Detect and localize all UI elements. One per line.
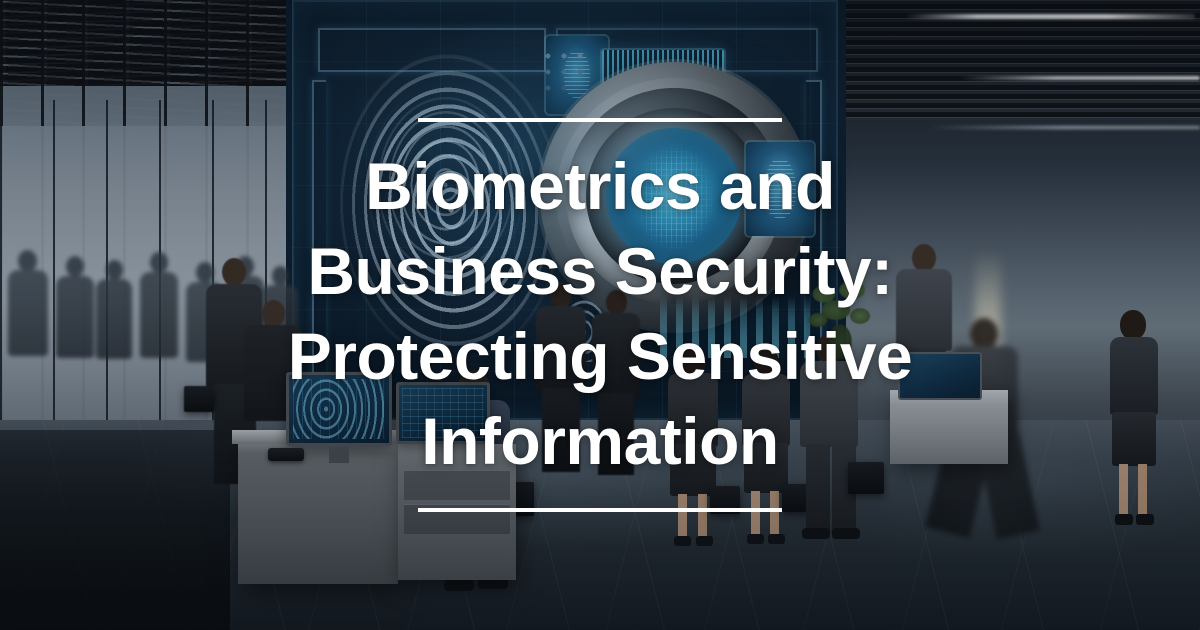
page-title: Biometrics and Business Security: Protec… — [280, 144, 920, 484]
banner-canvas: Biometrics and Business Security: Protec… — [0, 0, 1200, 630]
hero-title-block: Biometrics and Business Security: Protec… — [0, 0, 1200, 630]
divider-top — [418, 118, 782, 122]
divider-bottom — [418, 508, 782, 512]
